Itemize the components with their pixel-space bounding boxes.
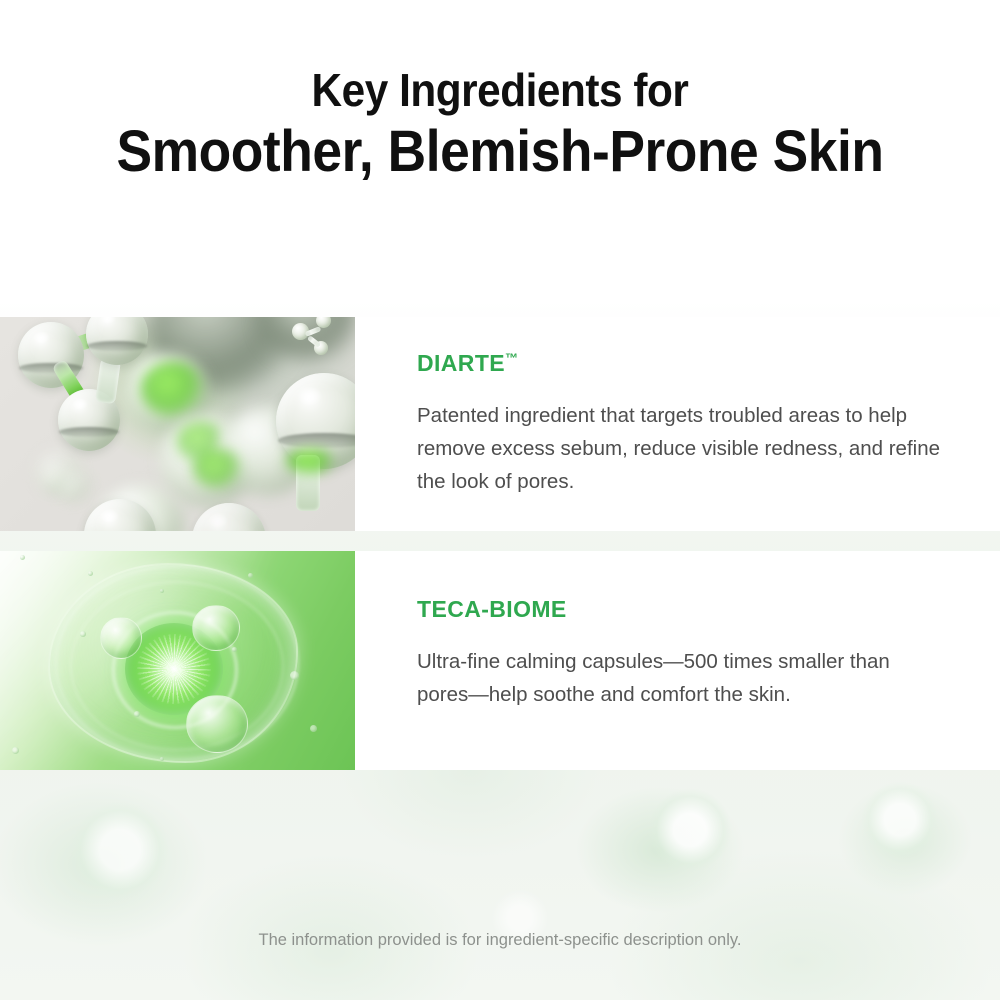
ingredient-card-teca-biome: TECA-BIOME Ultra-fine calming capsules—5… <box>0 551 1000 770</box>
page-title-line-1: Key Ingredients for <box>40 66 960 115</box>
gel-capsule-artwork <box>0 551 355 770</box>
ingredient-name-diarte: DIARTE™ <box>417 350 1000 377</box>
ingredient-name-teca-biome: TECA-BIOME <box>417 596 1000 623</box>
ingredient-description-teca-biome: Ultra-fine calming capsules—500 times sm… <box>417 645 942 711</box>
molecule-artwork <box>0 317 355 531</box>
ingredient-name-text: TECA-BIOME <box>417 596 567 622</box>
disclaimer-text: The information provided is for ingredie… <box>0 931 1000 950</box>
product-ingredient-infographic: Key Ingredients for Smoother, Blemish-Pr… <box>0 0 1000 1000</box>
ingredient-card-diarte: DIARTE™ Patented ingredient that targets… <box>0 317 1000 531</box>
ingredient-description-diarte: Patented ingredient that targets trouble… <box>417 399 942 499</box>
ingredient-copy-teca-biome: TECA-BIOME Ultra-fine calming capsules—5… <box>355 551 1000 770</box>
trademark-symbol: ™ <box>505 350 518 365</box>
ingredient-name-text: DIARTE <box>417 350 505 376</box>
ingredient-image-diarte <box>0 317 355 531</box>
ingredient-copy-diarte: DIARTE™ Patented ingredient that targets… <box>355 317 1000 531</box>
page-title: Key Ingredients for Smoother, Blemish-Pr… <box>0 66 1000 182</box>
page-title-line-2: Smoother, Blemish-Prone Skin <box>40 121 960 182</box>
ingredient-image-teca-biome <box>0 551 355 770</box>
